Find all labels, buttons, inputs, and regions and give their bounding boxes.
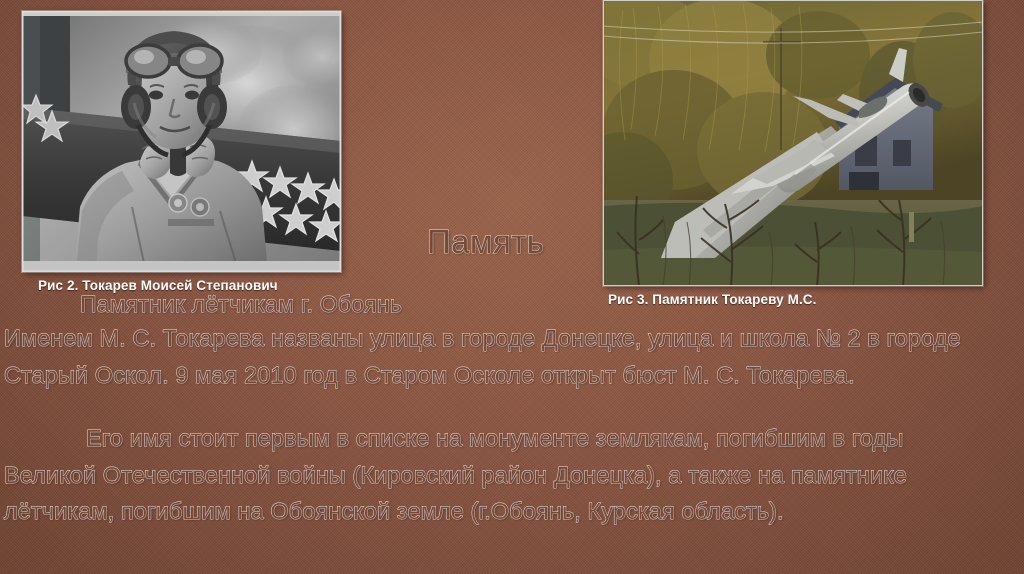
body-paragraph-2: Его имя стоит первым в списке на монумен…: [4, 420, 994, 530]
photo-monument: [603, 0, 983, 286]
page-title: Память: [427, 223, 544, 261]
body-paragraph-1: Именем М. С. Токарева названы улица в го…: [4, 320, 994, 393]
caption-photo-monument: Рис 3. Памятник Токареву М.С.: [608, 292, 817, 307]
subtitle-monument-obojan: Памятник лётчикам г. Обоянь: [80, 291, 402, 318]
jet-monument-photo-illustration: [603, 0, 983, 286]
presentation-slide: Память Рис 2. Токарев Моисей Степанович …: [0, 0, 1024, 574]
pilot-photo-illustration: [22, 11, 341, 272]
photo-pilot: [22, 11, 341, 272]
body-text-block: Именем М. С. Токарева названы улица в го…: [4, 320, 994, 530]
